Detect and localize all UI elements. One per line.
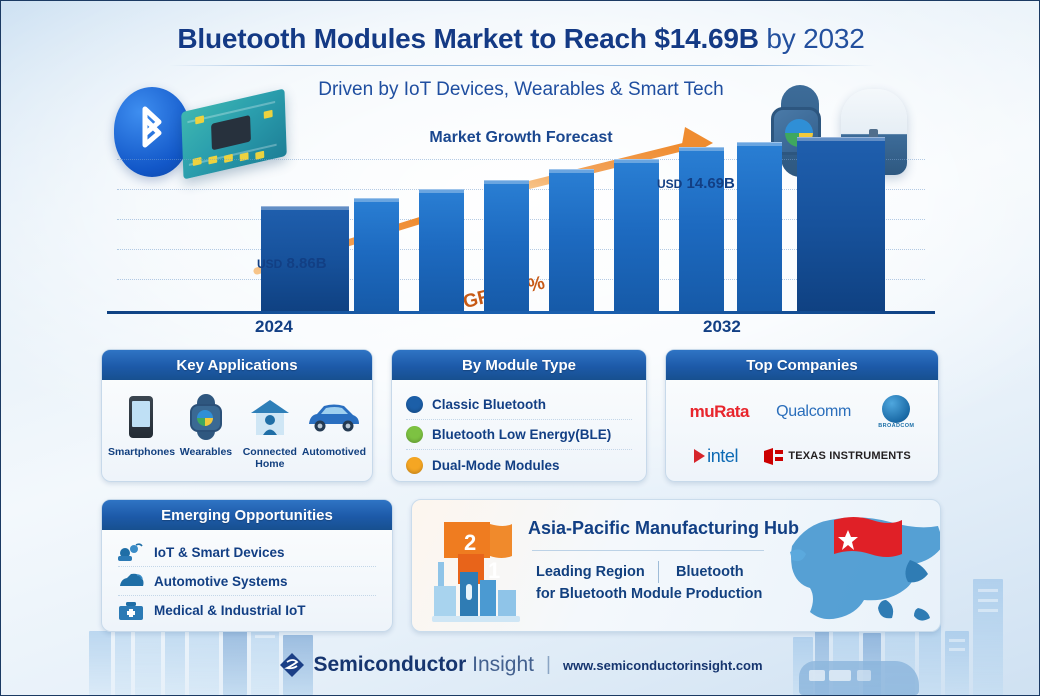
chart-bar-2032 — [797, 137, 885, 311]
footer-brand: Semiconductor Insight — [313, 653, 534, 677]
car-icon — [302, 392, 366, 442]
module-type-label: Classic Bluetooth — [432, 397, 546, 412]
module-type-row-ble[interactable]: Bluetooth Low Energy(BLE) — [406, 420, 632, 450]
company-logo-row-1: muRata Qualcomm BROADCOM — [676, 390, 928, 434]
legend-dot-classic — [406, 396, 423, 413]
smartwatch-icon — [174, 392, 238, 442]
data-label-unit: USD — [257, 257, 282, 271]
broadcom-logo[interactable]: BROADCOM — [878, 395, 914, 429]
chart-bar-2029 — [614, 159, 659, 311]
app-label: Smartphones — [108, 446, 174, 458]
ti-label: TEXAS INSTRUMENTS — [788, 450, 911, 462]
footer-separator: | — [546, 654, 551, 676]
smartphone-icon — [108, 392, 174, 442]
chart-bar-2028 — [549, 169, 594, 311]
eo-label: Automotive Systems — [154, 574, 288, 589]
company-logos: muRata Qualcomm BROADCOM intel — [666, 380, 938, 478]
asia-heading: Asia-Pacific Manufacturing Hub — [528, 518, 799, 539]
automotive-icon — [118, 571, 144, 591]
eo-label: Medical & Industrial IoT — [154, 603, 306, 618]
eo-row-medical[interactable]: Medical & Industrial IoT — [118, 596, 376, 625]
chart-plot-area: CAGR: 7.7% — [107, 121, 935, 311]
app-label: Wearables — [174, 446, 238, 458]
card-key-applications: Key Applications Smartphones — [101, 349, 373, 482]
page-title-main: Bluetooth Modules Market to Reach $14.69… — [177, 23, 758, 54]
ti-mark-icon — [764, 448, 783, 465]
legend-dot-dual-mode — [406, 457, 423, 474]
iot-devices-icon — [118, 542, 144, 562]
semiconductor-insight-logo — [279, 652, 305, 678]
footer-brand-light: Insight — [466, 653, 534, 676]
broadcom-label: BROADCOM — [878, 423, 914, 429]
svg-text:2: 2 — [464, 530, 476, 555]
texas-instruments-logo[interactable]: TEXAS INSTRUMENTS — [764, 448, 911, 465]
data-label-unit: USD — [657, 177, 682, 191]
title-divider — [169, 65, 875, 66]
bar-highlight — [679, 147, 724, 151]
x-axis-label-2032: 2032 — [703, 317, 741, 337]
chart-bar-2026 — [419, 189, 464, 311]
card-top-companies: Top Companies muRata Qualcomm BROADCOM i… — [665, 349, 939, 482]
app-item-automotive[interactable]: Automotived — [302, 392, 366, 458]
chart-axis-line — [107, 311, 935, 314]
data-label-2024: USD 8.86B — [257, 255, 327, 272]
page-title: Bluetooth Modules Market to Reach $14.69… — [1, 23, 1040, 55]
module-type-label: Bluetooth Low Energy(BLE) — [432, 427, 611, 442]
asia-sub-bottom: for Bluetooth Module Production — [536, 586, 762, 602]
asia-sub-left: Leading Region — [536, 564, 645, 580]
intel-mark-icon — [693, 448, 707, 464]
data-label-value: 8.86B — [287, 255, 327, 272]
eo-row-automotive[interactable]: Automotive Systems — [118, 567, 376, 596]
chart-bar-2031 — [737, 142, 782, 311]
bar-highlight — [614, 159, 659, 163]
bar-highlight — [261, 206, 349, 210]
card-emerging-opportunities: Emerging Opportunities IoT & Smart Devic… — [101, 499, 393, 632]
data-label-2032: USD 14.69B — [657, 175, 735, 192]
murata-logo[interactable]: muRata — [690, 402, 749, 422]
app-item-wearables[interactable]: Wearables — [174, 392, 238, 458]
data-label-value: 14.69B — [687, 175, 735, 192]
app-label: Connected Home — [238, 446, 302, 470]
legend-dot-ble — [406, 426, 423, 443]
chart-bar-2030 — [679, 147, 724, 311]
eo-label: IoT & Smart Devices — [154, 545, 285, 560]
asia-divider — [532, 550, 764, 551]
bar-highlight — [354, 198, 399, 202]
card-title-key-applications: Key Applications — [102, 350, 372, 380]
asia-pacific-panel: 2 1 Asia-Pacific Manufacturing Hub Leadi… — [411, 499, 941, 632]
market-growth-chart: Market Growth Forecast CAGR: 7.7% — [107, 121, 935, 336]
footer-brand-bold: Semiconductor — [313, 653, 466, 676]
module-type-row-classic[interactable]: Classic Bluetooth — [406, 390, 632, 420]
eo-row-iot[interactable]: IoT & Smart Devices — [118, 538, 376, 567]
asia-sub-separator — [658, 561, 659, 583]
svg-text:1: 1 — [488, 558, 500, 583]
module-type-list: Classic Bluetooth Bluetooth Low Energy(B… — [392, 380, 646, 480]
bar-highlight — [549, 169, 594, 173]
intel-label: intel — [707, 446, 738, 467]
footer-url[interactable]: www.semiconductorinsight.com — [563, 658, 763, 673]
module-type-label: Dual-Mode Modules — [432, 458, 560, 473]
connected-home-icon — [238, 392, 302, 442]
chart-bar-2025 — [354, 198, 399, 311]
card-title-emerging-opportunities: Emerging Opportunities — [102, 500, 392, 530]
bar-highlight — [797, 137, 885, 141]
card-title-module-type: By Module Type — [392, 350, 646, 380]
asia-sub-right: Bluetooth — [676, 564, 744, 580]
module-type-row-dual-mode[interactable]: Dual-Mode Modules — [406, 450, 632, 480]
app-item-connected-home[interactable]: Connected Home — [238, 392, 302, 470]
emerging-opportunities-list: IoT & Smart Devices Automotive Systems — [102, 530, 392, 625]
china-flag-icon — [832, 516, 904, 572]
intel-logo[interactable]: intel — [693, 446, 738, 467]
app-item-smartphones[interactable]: Smartphones — [108, 392, 174, 458]
bar-highlight — [419, 189, 464, 193]
footer: Semiconductor Insight | www.semiconducto… — [1, 645, 1040, 685]
x-axis-label-2024: 2024 — [255, 317, 293, 337]
factory-skyline-icon: 2 1 — [428, 514, 524, 626]
qualcomm-logo[interactable]: Qualcomm — [776, 403, 851, 421]
infographic-page: Bluetooth Modules Market to Reach $14.69… — [0, 0, 1040, 696]
card-title-top-companies: Top Companies — [666, 350, 938, 380]
bar-highlight — [484, 180, 529, 184]
medical-briefcase-icon — [118, 601, 144, 621]
chart-bar-2027 — [484, 180, 529, 311]
company-logo-row-2: intel TEXAS INSTRUMENTS — [676, 434, 928, 478]
card-module-type: By Module Type Classic Bluetooth Bluetoo… — [391, 349, 647, 482]
app-label: Automotived — [302, 446, 366, 458]
page-title-tail: by 2032 — [759, 23, 865, 54]
key-applications-list: Smartphones Wearables — [102, 380, 372, 470]
bar-highlight — [737, 142, 782, 146]
